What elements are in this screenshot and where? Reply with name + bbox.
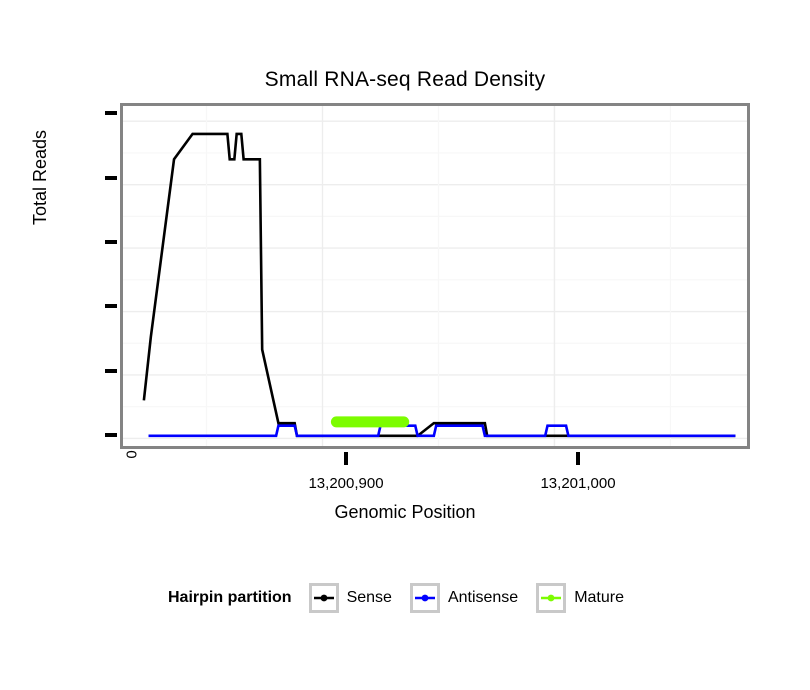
gridlines	[123, 106, 747, 446]
legend-title: Hairpin partition	[168, 589, 292, 607]
legend-entry-sense[interactable]: Sense	[309, 583, 400, 613]
legend-entry-antisense[interactable]: Antisense	[410, 583, 526, 613]
legend-key-antisense	[410, 583, 440, 613]
y-tick-mark-20	[105, 176, 117, 180]
chart-page: Small RNA-seq Read Density Total Reads 2…	[0, 0, 810, 690]
y-tick-mark-15	[105, 240, 117, 244]
legend-label-antisense: Antisense	[448, 589, 518, 607]
y-tick-mark-10	[105, 304, 117, 308]
series-line-antisense	[149, 426, 736, 436]
y-tick-mark-5	[105, 369, 117, 373]
line-point-icon	[540, 590, 562, 606]
chart-title: Small RNA-seq Read Density	[0, 68, 810, 92]
y-tick-mark-0	[105, 433, 117, 437]
x-tick-label-1: 13,200,900	[308, 475, 383, 492]
plot-svg	[123, 106, 747, 446]
series-line-sense	[144, 134, 736, 436]
x-axis-title: Genomic Position	[0, 502, 810, 523]
chart-legend: Hairpin partition Sense Antisense	[0, 583, 810, 613]
legend-key-mature	[536, 583, 566, 613]
line-point-icon	[414, 590, 436, 606]
y-axis-title: Total Reads	[30, 130, 51, 225]
plot-area	[123, 106, 747, 446]
x-tick-mark-1	[344, 452, 348, 465]
legend-entry-mature[interactable]: Mature	[536, 583, 632, 613]
x-tick-label-2: 13,201,000	[540, 475, 615, 492]
legend-key-sense	[309, 583, 339, 613]
x-tick-mark-2	[576, 452, 580, 465]
y-tick-mark-25	[105, 111, 117, 115]
line-point-icon	[313, 590, 335, 606]
legend-label-mature: Mature	[574, 589, 624, 607]
legend-label-sense: Sense	[347, 589, 392, 607]
series-layer	[144, 134, 736, 436]
